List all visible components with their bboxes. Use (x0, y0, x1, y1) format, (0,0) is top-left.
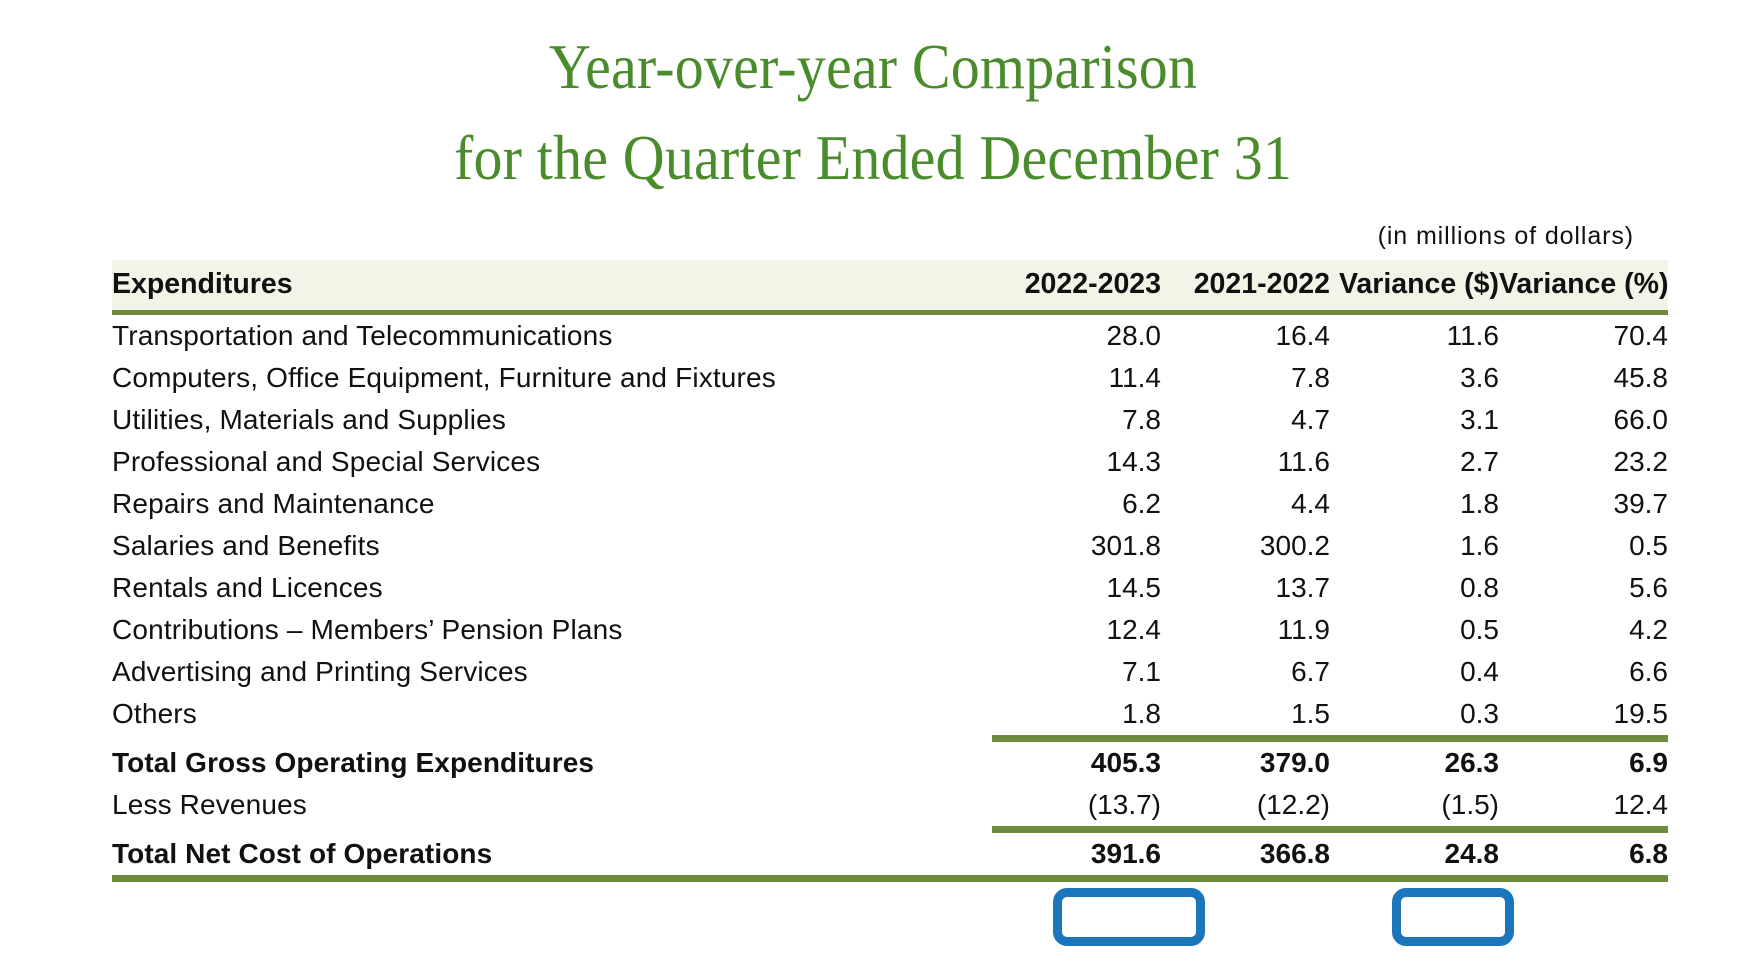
cell-2021-2022: 13.7 (1161, 567, 1330, 609)
row-label: Utilities, Materials and Supplies (112, 399, 992, 441)
separator-segment (1499, 735, 1668, 742)
column-header-variance-dollar: Variance ($) (1330, 260, 1499, 310)
cell-2021-2022: 11.9 (1161, 609, 1330, 651)
cell-variance-percent: 6.9 (1499, 742, 1668, 784)
cell-variance-percent: 12.4 (1499, 784, 1668, 826)
cell-2022-2023: 12.4 (992, 609, 1161, 651)
cell-variance-dollar: 3.6 (1330, 357, 1499, 399)
table-bottom-rule (112, 875, 1668, 882)
units-note: (in millions of dollars) (1378, 222, 1634, 251)
row-label: Transportation and Telecommunications (112, 315, 992, 357)
cell-variance-percent: 4.2 (1499, 609, 1668, 651)
cell-variance-percent: 23.2 (1499, 441, 1668, 483)
separator-segment (1330, 735, 1499, 742)
table-bottom-rule-row (112, 875, 1668, 882)
table-header-row: Expenditures 2022-2023 2021-2022 Varianc… (112, 260, 1668, 310)
table-row-total-gross: Total Gross Operating Expenditures 405.3… (112, 742, 1668, 784)
cell-variance-percent: 66.0 (1499, 399, 1668, 441)
cell-variance-percent: 5.6 (1499, 567, 1668, 609)
cell-variance-percent: 6.8 (1499, 833, 1668, 875)
cell-2022-2023: 1.8 (992, 693, 1161, 735)
table-row: Contributions – Members’ Pension Plans 1… (112, 609, 1668, 651)
column-header-2022-2023: 2022-2023 (992, 260, 1161, 310)
cell-variance-percent: 0.5 (1499, 525, 1668, 567)
row-label: Total Net Cost of Operations (112, 833, 992, 875)
cell-variance-dollar: 0.3 (1330, 693, 1499, 735)
separator-gap (112, 826, 992, 833)
cell-2021-2022: 11.6 (1161, 441, 1330, 483)
row-label: Less Revenues (112, 784, 992, 826)
table-row: Utilities, Materials and Supplies 7.8 4.… (112, 399, 1668, 441)
cell-2022-2023: 391.6 (992, 833, 1161, 875)
cell-variance-dollar: 24.8 (1330, 833, 1499, 875)
cell-variance-dollar: 0.4 (1330, 651, 1499, 693)
row-label: Rentals and Licences (112, 567, 992, 609)
subtotal-separator-row (112, 735, 1668, 742)
page-title: Year-over-year Comparison for the Quarte… (0, 22, 1746, 203)
cell-2022-2023: 14.5 (992, 567, 1161, 609)
cell-2022-2023: (13.7) (992, 784, 1161, 826)
cell-variance-percent: 19.5 (1499, 693, 1668, 735)
table-row: Professional and Special Services 14.3 1… (112, 441, 1668, 483)
cell-2021-2022: 4.4 (1161, 483, 1330, 525)
table-row: Advertising and Printing Services 7.1 6.… (112, 651, 1668, 693)
row-label: Advertising and Printing Services (112, 651, 992, 693)
cell-2021-2022: 300.2 (1161, 525, 1330, 567)
cell-2022-2023: 14.3 (992, 441, 1161, 483)
column-header-expenditures: Expenditures (112, 260, 992, 310)
cell-2021-2022: (12.2) (1161, 784, 1330, 826)
cell-variance-dollar: 26.3 (1330, 742, 1499, 784)
cell-2021-2022: 1.5 (1161, 693, 1330, 735)
cell-variance-dollar: 0.8 (1330, 567, 1499, 609)
row-label: Salaries and Benefits (112, 525, 992, 567)
cell-2022-2023: 301.8 (992, 525, 1161, 567)
row-label: Computers, Office Equipment, Furniture a… (112, 357, 992, 399)
financial-table: Expenditures 2022-2023 2021-2022 Varianc… (112, 260, 1668, 882)
cell-variance-percent: 45.8 (1499, 357, 1668, 399)
cell-variance-dollar: 1.6 (1330, 525, 1499, 567)
cell-variance-dollar: 0.5 (1330, 609, 1499, 651)
net-total-separator-row (112, 826, 1668, 833)
cell-2022-2023: 7.1 (992, 651, 1161, 693)
cell-variance-percent: 6.6 (1499, 651, 1668, 693)
table-row: Rentals and Licences 14.5 13.7 0.8 5.6 (112, 567, 1668, 609)
row-label: Others (112, 693, 992, 735)
page-title-line-1: Year-over-year Comparison (70, 22, 1676, 113)
highlight-box-total-net-variance-dollar (1392, 888, 1514, 946)
cell-variance-dollar: 1.8 (1330, 483, 1499, 525)
table-row-less-revenues: Less Revenues (13.7) (12.2) (1.5) 12.4 (112, 784, 1668, 826)
separator-gap (112, 735, 992, 742)
column-header-variance-percent: Variance (%) (1499, 260, 1668, 310)
cell-2021-2022: 4.7 (1161, 399, 1330, 441)
cell-2021-2022: 379.0 (1161, 742, 1330, 784)
separator-segment (1499, 826, 1668, 833)
table-row: Repairs and Maintenance 6.2 4.4 1.8 39.7 (112, 483, 1668, 525)
column-header-2021-2022: 2021-2022 (1161, 260, 1330, 310)
cell-2022-2023: 6.2 (992, 483, 1161, 525)
table-row: Computers, Office Equipment, Furniture a… (112, 357, 1668, 399)
separator-segment (992, 735, 1161, 742)
page-title-line-2: for the Quarter Ended December 31 (70, 113, 1676, 204)
cell-variance-dollar: (1.5) (1330, 784, 1499, 826)
row-label: Professional and Special Services (112, 441, 992, 483)
row-label: Contributions – Members’ Pension Plans (112, 609, 992, 651)
cell-2021-2022: 7.8 (1161, 357, 1330, 399)
cell-2022-2023: 28.0 (992, 315, 1161, 357)
cell-2022-2023: 11.4 (992, 357, 1161, 399)
cell-2021-2022: 366.8 (1161, 833, 1330, 875)
cell-variance-dollar: 11.6 (1330, 315, 1499, 357)
table-row: Salaries and Benefits 301.8 300.2 1.6 0.… (112, 525, 1668, 567)
table-row-total-net: Total Net Cost of Operations 391.6 366.8… (112, 833, 1668, 875)
table-row: Others 1.8 1.5 0.3 19.5 (112, 693, 1668, 735)
cell-variance-percent: 70.4 (1499, 315, 1668, 357)
cell-variance-dollar: 2.7 (1330, 441, 1499, 483)
separator-segment (1161, 826, 1330, 833)
separator-segment (992, 826, 1161, 833)
cell-2021-2022: 6.7 (1161, 651, 1330, 693)
slide-root: Year-over-year Comparison for the Quarte… (0, 0, 1746, 979)
highlight-box-total-net-2022-2023 (1053, 888, 1205, 946)
cell-variance-dollar: 3.1 (1330, 399, 1499, 441)
row-label: Total Gross Operating Expenditures (112, 742, 992, 784)
financial-table-wrapper: Expenditures 2022-2023 2021-2022 Varianc… (112, 260, 1668, 882)
table-row: Transportation and Telecommunications 28… (112, 315, 1668, 357)
cell-2022-2023: 405.3 (992, 742, 1161, 784)
row-label: Repairs and Maintenance (112, 483, 992, 525)
cell-2022-2023: 7.8 (992, 399, 1161, 441)
separator-segment (1161, 735, 1330, 742)
cell-variance-percent: 39.7 (1499, 483, 1668, 525)
cell-2021-2022: 16.4 (1161, 315, 1330, 357)
separator-segment (1330, 826, 1499, 833)
